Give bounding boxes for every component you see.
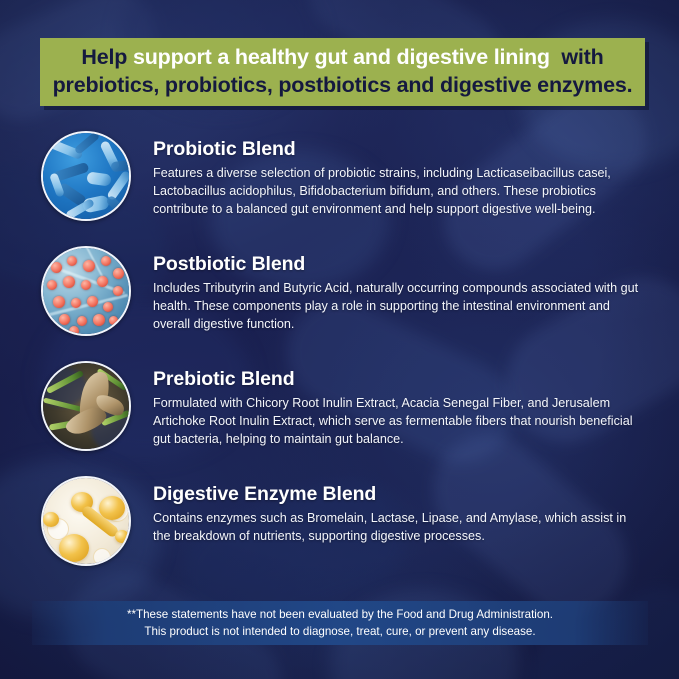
infographic-root: Help support a healthy gut and digestive… — [0, 0, 679, 679]
blend-description: Contains enzymes such as Bromelain, Lact… — [153, 510, 641, 546]
blend-row-postbiotic: Postbiotic Blend Includes Tributyrin and… — [41, 246, 641, 336]
probiotic-bacteria-photo — [41, 131, 131, 221]
enzyme-image-content — [43, 478, 129, 564]
blend-row-probiotic: Probiotic Blend Features a diverse selec… — [41, 131, 641, 221]
blend-description: Formulated with Chicory Root Inulin Extr… — [153, 395, 641, 449]
golden-enzyme-droplets-photo — [41, 476, 131, 566]
headline-tail: with — [561, 45, 603, 69]
blend-title: Prebiotic Blend — [153, 369, 641, 390]
disclaimer-line-2: This product is not intended to diagnose… — [144, 623, 535, 640]
blend-title: Probiotic Blend — [153, 139, 641, 160]
blend-copy-probiotic: Probiotic Blend Features a diverse selec… — [153, 131, 641, 219]
blend-copy-postbiotic: Postbiotic Blend Includes Tributyrin and… — [153, 246, 641, 334]
blend-row-prebiotic: Prebiotic Blend Formulated with Chicory … — [41, 361, 641, 451]
blend-title: Digestive Enzyme Blend — [153, 484, 641, 505]
postbiotic-cells-photo — [41, 246, 131, 336]
blend-description: Features a diverse selection of probioti… — [153, 165, 641, 219]
blend-title: Postbiotic Blend — [153, 254, 641, 275]
disclaimer-banner: **These statements have not been evaluat… — [32, 601, 648, 645]
probiotic-image-content — [43, 133, 129, 219]
headline-lead: Help — [81, 45, 127, 69]
postbiotic-image-content — [43, 248, 129, 334]
chicory-root-photo — [41, 361, 131, 451]
prebiotic-image-content — [43, 363, 129, 449]
blend-row-digestive-enzyme: Digestive Enzyme Blend Contains enzymes … — [41, 476, 641, 566]
headline-highlight: support a healthy gut and digestive lini… — [133, 45, 550, 69]
headline-line-2: prebiotics, probiotics, postbiotics and … — [53, 73, 633, 97]
disclaimer-line-1: **These statements have not been evaluat… — [127, 606, 553, 623]
blend-description: Includes Tributyrin and Butyric Acid, na… — [153, 280, 641, 334]
blend-copy-digestive-enzyme: Digestive Enzyme Blend Contains enzymes … — [153, 476, 641, 546]
headline-banner: Help support a healthy gut and digestive… — [40, 38, 645, 106]
headline-text: Help support a healthy gut and digestive… — [53, 44, 633, 99]
blend-copy-prebiotic: Prebiotic Blend Formulated with Chicory … — [153, 361, 641, 449]
